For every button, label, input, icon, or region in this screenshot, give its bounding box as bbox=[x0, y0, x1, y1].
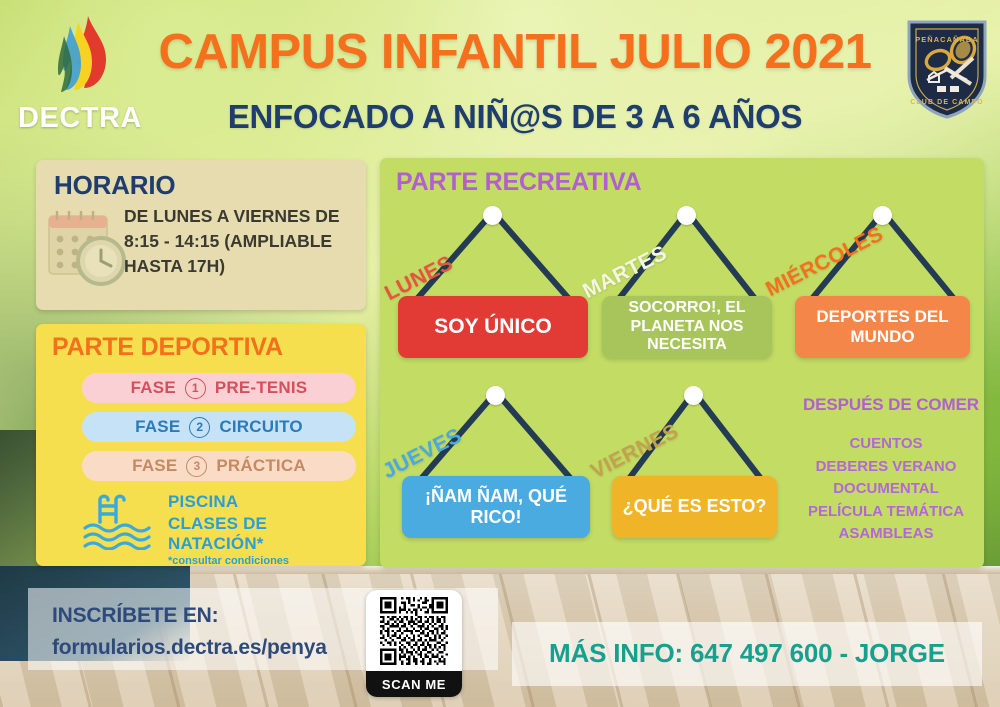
fase-row-1: FASE 1 PRE-TENIS bbox=[82, 373, 356, 403]
fase-number-3: 3 bbox=[186, 456, 207, 477]
fase-number-1: 1 bbox=[185, 378, 206, 399]
activity-sign-miercoles[interactable]: DEPORTES DEL MUNDO bbox=[795, 296, 970, 358]
after-meal-item: DEBERES VERANO bbox=[788, 456, 984, 479]
rope-knob-lunes bbox=[483, 206, 502, 225]
after-meal-list: CUENTOS DEBERES VERANO DOCUMENTAL PELÍCU… bbox=[788, 433, 984, 546]
rope-knob-viernes bbox=[684, 386, 703, 405]
qr-code-icon[interactable] bbox=[375, 597, 453, 665]
activity-sign-martes[interactable]: SOCORRO!, EL PLANETA NOS NECESITA bbox=[602, 296, 772, 358]
day-block-martes: MARTES SOCORRO!, EL PLANETA NOS NECESITA bbox=[602, 200, 772, 352]
fase-name-3: PRÁCTICA bbox=[216, 456, 305, 476]
pool-text-block: PISCINA CLASES DE NATACIÓN* *consultar c… bbox=[168, 492, 358, 567]
rope-knob-jueves bbox=[486, 386, 505, 405]
mas-info-text: MÁS INFO: 647 497 600 - JORGE bbox=[512, 638, 982, 669]
penacanada-club-badge: PEÑACAÑADA CLUB DE CAMPO bbox=[905, 18, 989, 120]
horario-text: DE LUNES A VIERNES DE 8:15 - 14:15 (AMPL… bbox=[124, 204, 356, 279]
badge-bottom-label: CLUB DE CAMPO bbox=[910, 99, 983, 106]
activity-sign-viernes[interactable]: ¿QUÉ ES ESTO? bbox=[612, 476, 777, 538]
qr-scan-me-label: SCAN ME bbox=[366, 671, 462, 697]
pool-line-1: PISCINA bbox=[168, 492, 358, 512]
fase-label-1: FASE bbox=[131, 378, 176, 398]
pool-line-2: CLASES DE NATACIÓN* bbox=[168, 514, 358, 554]
flame-icon bbox=[48, 14, 118, 104]
poster-root: DECTRA CAMPUS INFANTIL JULIO 2021 ENFOCA… bbox=[0, 0, 1000, 707]
fase-row-3: FASE 3 PRÁCTICA bbox=[82, 451, 356, 481]
parte-deportiva-title: PARTE DEPORTIVA bbox=[52, 333, 283, 362]
day-block-jueves: JUEVES ¡ÑAM ÑAM, QUÉ RICO! bbox=[402, 380, 590, 532]
horario-title: HORARIO bbox=[54, 170, 175, 201]
day-block-lunes: LUNES SOY ÚNICO bbox=[398, 200, 588, 352]
after-meal-item: ASAMBLEAS bbox=[788, 523, 984, 546]
swimming-pool-icon bbox=[82, 492, 160, 550]
after-meal-item: PELÍCULA TEMÁTICA bbox=[788, 501, 984, 524]
dectra-logo: DECTRA bbox=[18, 14, 140, 136]
pool-line-3: *consultar condiciones bbox=[168, 555, 358, 567]
fase-label-3: FASE bbox=[132, 456, 177, 476]
horario-card: HORARIO DE LUNES A VIERNES DE 8:15 - 14:… bbox=[36, 160, 366, 310]
parte-deportiva-card: PARTE DEPORTIVA FASE 1 PRE-TENIS FASE 2 … bbox=[36, 324, 366, 566]
after-meal-item: DOCUMENTAL bbox=[788, 478, 984, 501]
fase-row-2: FASE 2 CIRCUITO bbox=[82, 412, 356, 442]
rope-knob-martes bbox=[677, 206, 696, 225]
inscribete-label: INSCRÍBETE EN: bbox=[52, 604, 218, 628]
after-meal-title: DESPUÉS DE COMER bbox=[798, 395, 984, 415]
fase-name-2: CIRCUITO bbox=[219, 417, 302, 437]
inscribete-url[interactable]: formularios.dectra.es/penya bbox=[52, 636, 327, 660]
fase-name-1: PRE-TENIS bbox=[215, 378, 307, 398]
fase-label-2: FASE bbox=[135, 417, 180, 437]
after-meal-item: CUENTOS bbox=[788, 433, 984, 456]
badge-top-label: PEÑACAÑADA bbox=[915, 35, 979, 44]
qr-code-card[interactable]: SCAN ME bbox=[366, 590, 462, 697]
parte-recreativa-title: PARTE RECREATIVA bbox=[396, 168, 641, 197]
fase-number-2: 2 bbox=[189, 417, 210, 438]
page-subtitle: ENFOCADO A NIÑ@S DE 3 A 6 AÑOS bbox=[130, 98, 900, 136]
activity-sign-jueves[interactable]: ¡ÑAM ÑAM, QUÉ RICO! bbox=[402, 476, 590, 538]
parte-recreativa-card: PARTE RECREATIVA LUNES SOY ÚNICO MARTES … bbox=[380, 158, 984, 568]
calendar-clock-icon bbox=[44, 204, 130, 290]
day-block-miercoles: MIÉRCOLES DEPORTES DEL MUNDO bbox=[795, 200, 970, 352]
day-block-viernes: VIERNES ¿QUÉ ES ESTO? bbox=[612, 380, 777, 532]
page-title: CAMPUS INFANTIL JULIO 2021 bbox=[130, 24, 900, 80]
activity-sign-lunes[interactable]: SOY ÚNICO bbox=[398, 296, 588, 358]
logo-brand-text: DECTRA bbox=[18, 102, 140, 135]
